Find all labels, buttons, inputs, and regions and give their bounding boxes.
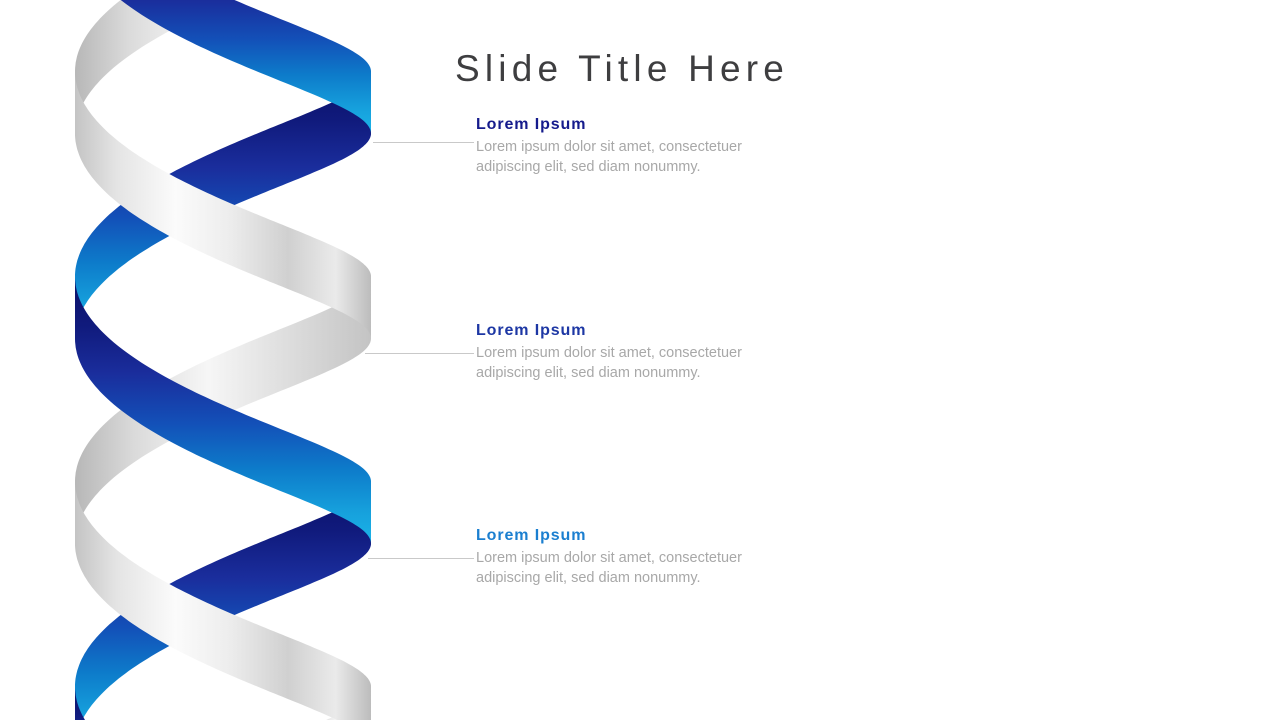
item-heading-2: Lorem Ipsum [476, 321, 806, 341]
item-heading-1: Lorem Ipsum [476, 115, 806, 135]
item-body-2: Lorem ipsum dolor sit amet, consectetuer… [476, 344, 786, 383]
item-body-1: Lorem ipsum dolor sit amet, consectetuer… [476, 138, 786, 177]
connector-line-1 [373, 142, 474, 143]
dna-helix-graphic [0, 0, 420, 720]
list-item-3[interactable]: Lorem Ipsum Lorem ipsum dolor sit amet, … [476, 526, 806, 588]
list-item-2[interactable]: Lorem Ipsum Lorem ipsum dolor sit amet, … [476, 321, 806, 383]
list-item-1[interactable]: Lorem Ipsum Lorem ipsum dolor sit amet, … [476, 115, 806, 177]
helix-strands [75, 0, 371, 720]
page-title: Slide Title Here [455, 48, 789, 90]
slide-canvas: Slide Title Here Lorem Ipsum Lorem ipsum… [0, 0, 1280, 720]
connector-line-3 [368, 558, 474, 559]
item-body-3: Lorem ipsum dolor sit amet, consectetuer… [476, 549, 786, 588]
item-heading-3: Lorem Ipsum [476, 526, 806, 546]
connector-line-2 [365, 353, 474, 354]
